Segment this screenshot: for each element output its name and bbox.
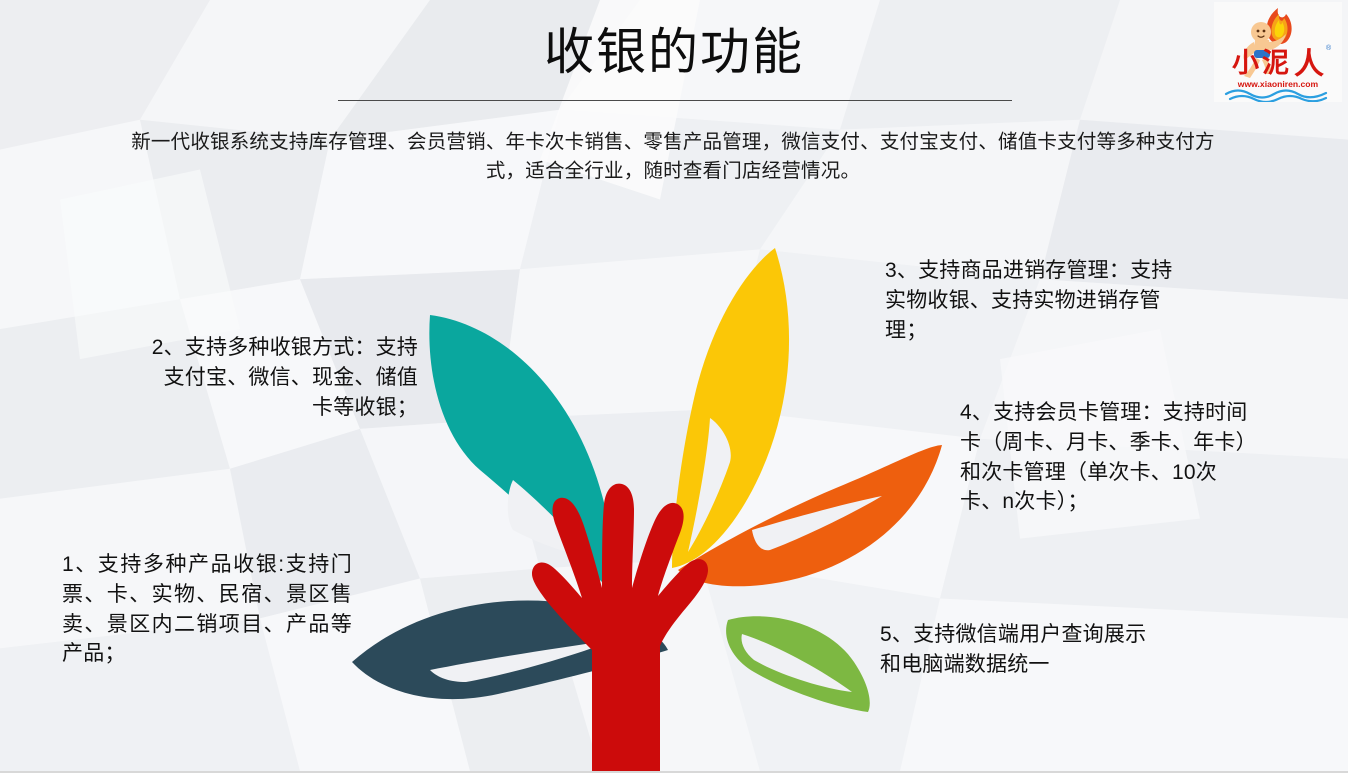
logo-char-2: 泥 [1262,48,1289,78]
title-container: 收银的功能 [0,26,1348,79]
callout-item-5: 5、支持微信端用户查询展示和电脑端数据统一 [880,620,1160,680]
logo-char-1: 小 [1232,48,1259,78]
callout-item-3: 3、支持商品进销存管理：支持实物收银、支持实物进销存管理； [885,256,1185,345]
callout-item-2: 2、支持多种收银方式：支持支付宝、微信、现金、储值卡等收银； [150,333,418,422]
callout-item-1: 1、支持多种产品收银:支持门票、卡、实物、民宿、景区售卖、景区内二销项目、产品等… [62,550,352,669]
green-leaf [726,616,870,712]
slide-canvas: 小 泥 人 ® www.xiaoniren.com 收银的功能 新一代收银系统支… [0,0,1348,773]
logo-website: www.xiaoniren.com [1237,79,1319,89]
brand-logo: 小 泥 人 ® www.xiaoniren.com [1214,2,1342,102]
registered-mark-icon: ® [1326,44,1332,52]
callout-item-4: 4、支持会员卡管理：支持时间卡（周卡、月卡、季卡、年卡）和次卡管理（单次卡、10… [960,398,1248,517]
logo-char-3: 人 [1294,48,1324,81]
page-title: 收银的功能 [0,26,1348,79]
subtitle-text: 新一代收银系统支持库存管理、会员营销、年卡次卡销售、零售产品管理，微信支付、支付… [112,128,1234,186]
hand-tree-illustration [330,230,950,773]
title-divider [338,100,1012,101]
